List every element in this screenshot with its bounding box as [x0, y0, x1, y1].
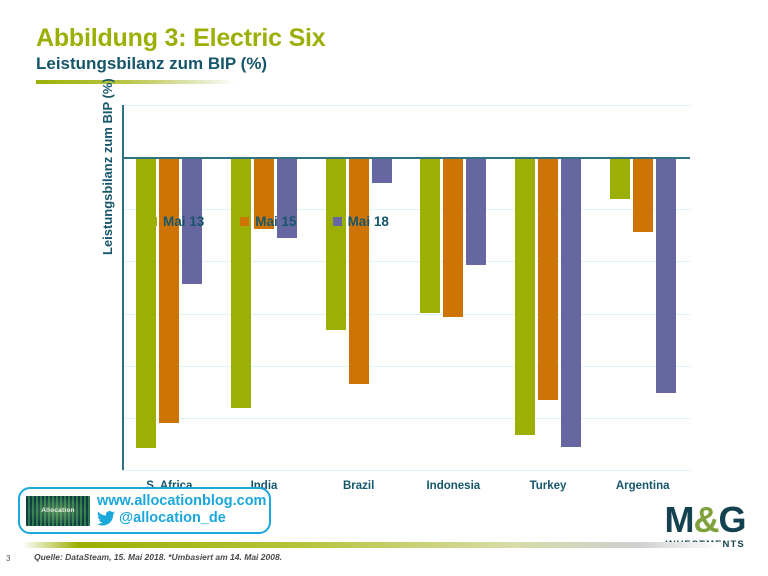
bar[interactable]: [538, 157, 558, 400]
zero-line: [122, 157, 690, 159]
bar-group: [595, 105, 690, 470]
blog-badge-text: www.allocationblog.com @allocation_de: [97, 494, 266, 527]
legend-item[interactable]: Mai 15: [240, 214, 296, 229]
twitter-handle-label: @allocation_de: [119, 511, 226, 527]
page-title: Abbildung 3: Electric Six: [36, 24, 326, 53]
bar-group: [501, 105, 596, 470]
bar[interactable]: [443, 157, 463, 317]
title-divider: [36, 80, 236, 84]
x-axis-tick-label: Turkey: [530, 480, 567, 492]
plot-area: Leistungsbilanz zum BIP (%) 10-1-2-3-4-5…: [122, 105, 690, 470]
bar[interactable]: [466, 157, 486, 264]
bar[interactable]: [326, 157, 346, 330]
x-axis-tick-label: Brazil: [343, 480, 374, 492]
bar-group: [217, 105, 312, 470]
blog-url-link[interactable]: www.allocationblog.com: [97, 494, 266, 510]
bar[interactable]: [231, 157, 251, 408]
y-axis-line: [122, 105, 124, 470]
bar[interactable]: [420, 157, 440, 313]
legend-swatch-icon: [148, 217, 157, 226]
bar-series-group: [122, 105, 690, 470]
gridline: [122, 470, 690, 471]
bar-group: [406, 105, 501, 470]
bar[interactable]: [136, 157, 156, 447]
mg-letter-m: M: [664, 499, 693, 540]
allocation-logo-label: Allocation: [41, 507, 74, 514]
bar[interactable]: [561, 157, 581, 446]
twitter-handle-row[interactable]: @allocation_de: [97, 511, 266, 527]
page-number: 3: [6, 554, 10, 563]
legend-label: Mai 13: [163, 214, 204, 229]
legend-swatch-icon: [333, 217, 342, 226]
x-axis-tick-label: Indonesia: [426, 480, 480, 492]
chart-legend: Mai 13Mai 15Mai 18: [148, 214, 389, 229]
bar[interactable]: [349, 157, 369, 384]
slide-root: Abbildung 3: Electric Six Leistungsbilan…: [0, 0, 768, 576]
bar[interactable]: [610, 157, 630, 199]
mg-ampersand: &: [693, 499, 718, 540]
chart-container: Leistungsbilanz zum BIP (%) 10-1-2-3-4-5…: [0, 96, 768, 481]
bar[interactable]: [633, 157, 653, 232]
source-note: Quelle: DataSteam, 15. Mai 2018. *Umbasi…: [34, 552, 282, 562]
legend-label: Mai 18: [348, 214, 389, 229]
x-axis-tick-label: Argentina: [616, 480, 670, 492]
twitter-icon: [97, 511, 115, 526]
legend-label: Mai 15: [255, 214, 296, 229]
bar[interactable]: [372, 157, 392, 183]
page-subtitle: Leistungsbilanz zum BIP (%): [36, 54, 267, 74]
y-axis-title: Leistungsbilanz zum BIP (%): [100, 78, 115, 255]
legend-item[interactable]: Mai 13: [148, 214, 204, 229]
bar[interactable]: [515, 157, 535, 434]
bar-group: [122, 105, 217, 470]
mg-letter-g: G: [718, 499, 745, 540]
blog-badge[interactable]: Allocation www.allocationblog.com @alloc…: [18, 487, 271, 534]
bar-group: [311, 105, 406, 470]
bar[interactable]: [159, 157, 179, 423]
footer-divider: [22, 542, 722, 548]
legend-swatch-icon: [240, 217, 249, 226]
bar[interactable]: [656, 157, 676, 393]
allocation-logo-icon: Allocation: [26, 496, 90, 526]
mg-wordmark: M&G: [655, 502, 755, 538]
legend-item[interactable]: Mai 18: [333, 214, 389, 229]
